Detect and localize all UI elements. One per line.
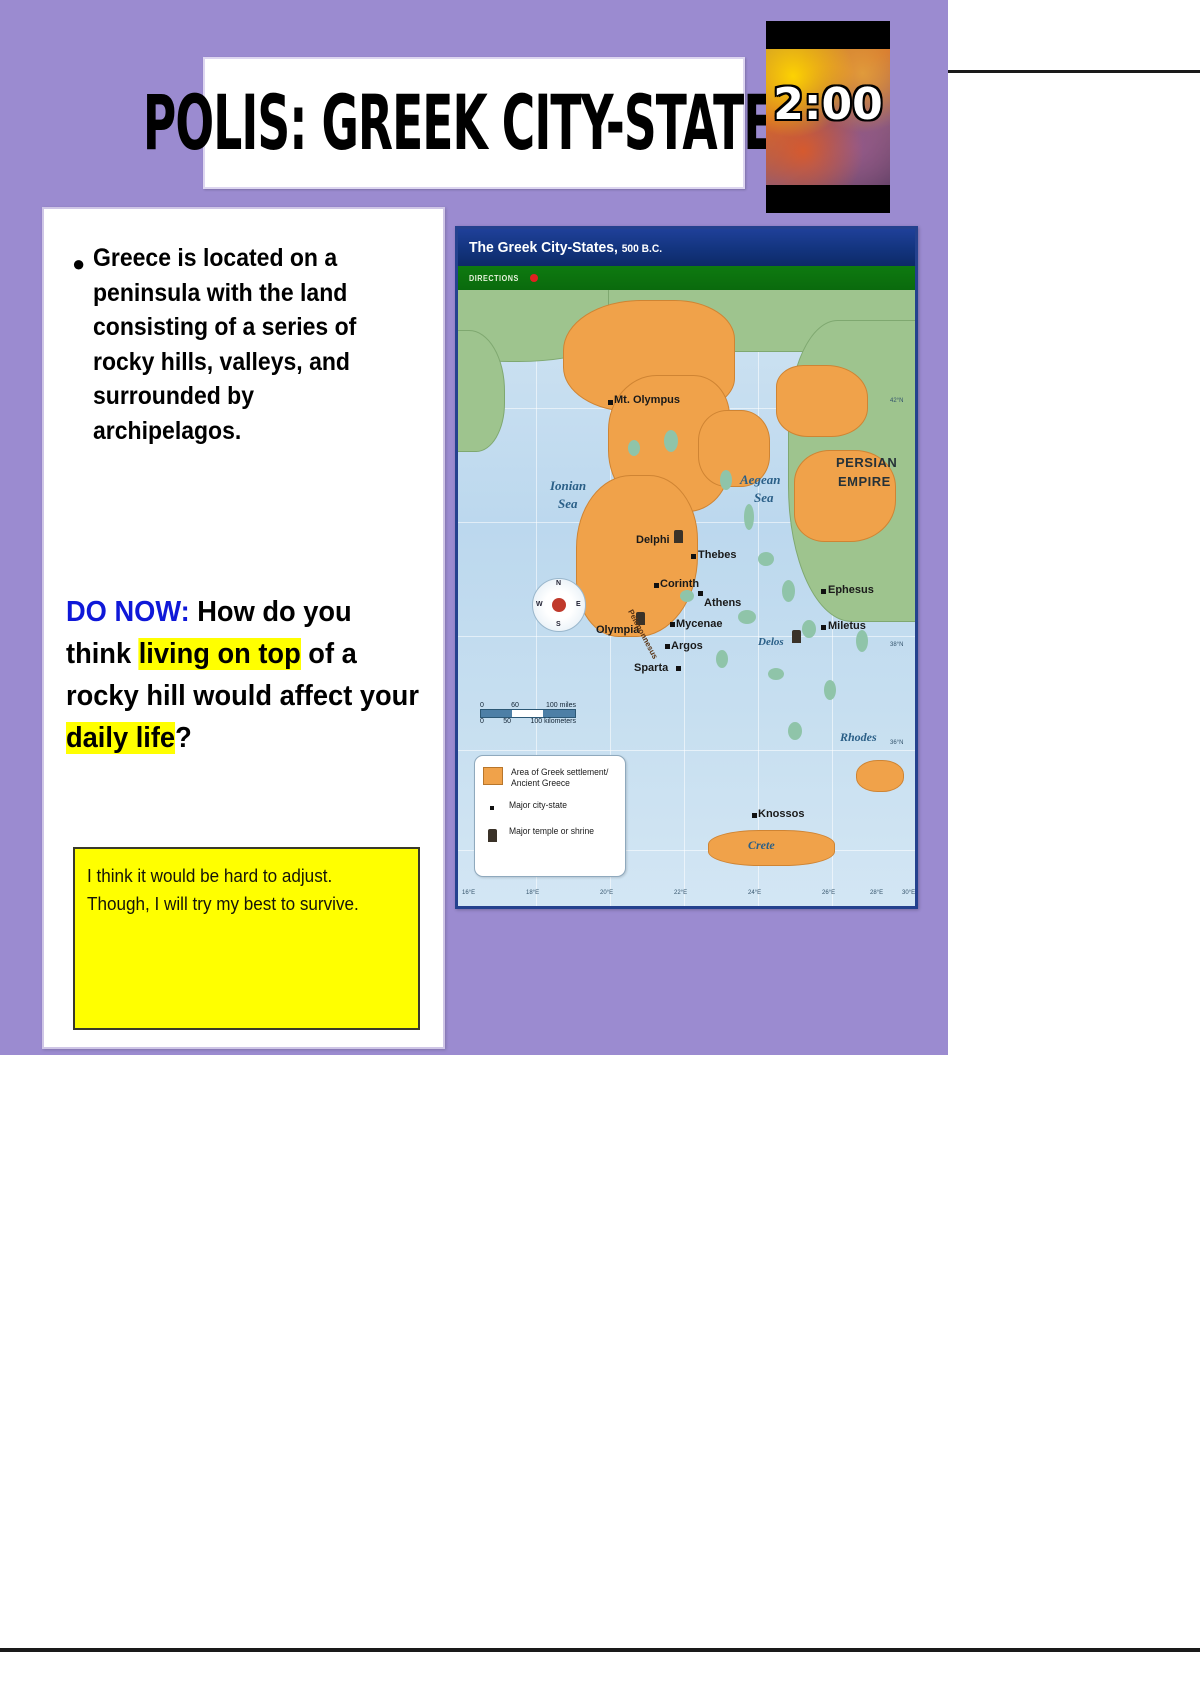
city-dot: [821, 625, 826, 630]
city-label-corinth: Corinth: [660, 578, 699, 590]
city-dot: [654, 583, 659, 588]
scale-bar-graphic: [480, 709, 576, 718]
page-root: POLIS: GREEK CITY-STATES 2:00 ● Greece i…: [0, 0, 1200, 1700]
compass-s: S: [556, 621, 561, 628]
scale-miles-0: 0: [480, 702, 484, 709]
city-dot: [665, 644, 670, 649]
empire-label-line2: EMPIRE: [838, 474, 891, 489]
city-label-mycenae: Mycenae: [676, 618, 722, 630]
bullet-item: ● Greece is located on a peninsula with …: [72, 241, 427, 448]
city-dot: [691, 554, 696, 559]
legend-area-line1: Area of Greek settlement/: [511, 767, 608, 778]
legend-item-temple: Major temple or shrine: [483, 826, 617, 842]
city-label-ephesus: Ephesus: [828, 584, 874, 596]
city-dot: [608, 400, 613, 405]
bullet-dot-icon: ●: [72, 253, 85, 275]
coord-bottom-3: 22°E: [674, 890, 687, 896]
coord-bottom-5: 26°E: [822, 890, 835, 896]
map-title-bar: The Greek City-States, 500 B.C.: [458, 229, 915, 266]
graticule-line: [458, 636, 915, 637]
city-label-argos: Argos: [671, 640, 703, 652]
coord-bottom-4: 24°E: [748, 890, 761, 896]
legend-temple-text: Major temple or shrine: [509, 826, 594, 837]
map-title: The Greek City-States, 500 B.C.: [469, 239, 662, 256]
scale-miles-2: 100 miles: [546, 702, 576, 709]
island: [716, 650, 728, 668]
city-label-thebes: Thebes: [698, 549, 737, 561]
coord-right-0: 42°N: [890, 398, 903, 404]
island: [628, 440, 640, 456]
coord-right-2: 36°N: [890, 740, 903, 746]
island: [758, 552, 774, 566]
island: [788, 722, 802, 740]
region-label-crete: Crete: [748, 838, 775, 853]
slide-title: POLIS: GREEK CITY-STATES: [143, 79, 805, 167]
legend-area-text: Area of Greek settlement/ Ancient Greece: [511, 767, 608, 790]
city-dot: [821, 589, 826, 594]
map-title-era: 500 B.C.: [622, 243, 662, 255]
region-label-rhodes: Rhodes: [840, 730, 877, 745]
do-now-q-part3: ?: [175, 722, 192, 754]
graticule-line: [458, 750, 915, 751]
island: [782, 580, 795, 602]
do-now-block: DO NOW: How do you think living on top o…: [66, 591, 446, 759]
land-greek-area: [776, 365, 868, 437]
sea-label-aegean-1: Aegean: [740, 472, 780, 488]
scale-miles-1: 60: [511, 702, 519, 709]
bullet-block: ● Greece is located on a peninsula with …: [72, 241, 427, 448]
legend-area-line2: Ancient Greece: [511, 778, 608, 789]
area-swatch-icon: [483, 767, 503, 785]
island: [720, 470, 732, 490]
scale-km-ticks: 0 50 100 kilometers: [480, 718, 576, 725]
temple-legend-icon: [483, 826, 501, 842]
temple-icon: [792, 630, 801, 643]
island: [680, 590, 694, 602]
map-title-main: The Greek City-States,: [469, 239, 622, 256]
coord-bottom-0: 16°E: [462, 890, 475, 896]
coord-bottom-6: 28°E: [870, 890, 883, 896]
coord-bottom-1: 18°E: [526, 890, 539, 896]
legend-city-text: Major city-state: [509, 800, 567, 811]
city-dot-icon: [483, 800, 501, 816]
empire-label-line1: PERSIAN: [836, 455, 897, 470]
legend-item-area: Area of Greek settlement/ Ancient Greece: [483, 767, 617, 790]
do-now-highlight-2: daily life: [66, 722, 175, 754]
island: [664, 430, 678, 452]
coord-bottom-7: 30°E: [902, 890, 915, 896]
compass-n: N: [556, 580, 561, 587]
do-now-highlight-1: living on top: [139, 638, 301, 670]
sea-label-ionian-2: Sea: [558, 496, 578, 512]
scale-km-0: 0: [480, 718, 484, 725]
map-scale-bar: 0 60 100 miles 0 50 100 kilometers: [480, 702, 576, 725]
content-panel: ● Greece is located on a peninsula with …: [42, 207, 445, 1049]
map-canvas: Ionian Sea Aegean Sea Mediterranean Sea …: [458, 290, 915, 906]
answer-textbox[interactable]: I think it would be hard to adjust. Thou…: [73, 847, 420, 1030]
scale-km-2: 100 kilometers: [530, 718, 576, 725]
slide-title-box: POLIS: GREEK CITY-STATES: [203, 57, 745, 189]
city-label-delphi: Delphi: [636, 534, 670, 546]
timer-widget[interactable]: 2:00: [766, 21, 890, 213]
temple-icon: [674, 530, 683, 543]
city-dot: [676, 666, 681, 671]
city-label-delos: Delos: [758, 636, 784, 648]
city-label-knossos: Knossos: [758, 808, 804, 820]
compass-w: W: [536, 601, 543, 608]
city-label-miletus: Miletus: [828, 620, 866, 632]
map-figure[interactable]: The Greek City-States, 500 B.C. DIRECTIO…: [455, 226, 918, 909]
scale-km-1: 50: [503, 718, 511, 725]
city-label-sparta: Sparta: [634, 662, 668, 674]
timer-value: 2:00: [766, 79, 890, 130]
coord-bottom-2: 20°E: [600, 890, 613, 896]
city-dot: [752, 813, 757, 818]
island: [738, 610, 756, 624]
do-now-question: DO NOW: How do you think living on top o…: [66, 591, 423, 759]
bullet-text: Greece is located on a peninsula with th…: [93, 241, 400, 448]
compass-rose-icon: N S E W: [532, 578, 586, 632]
city-dot: [670, 622, 675, 627]
compass-e: E: [576, 601, 581, 608]
map-legend: Area of Greek settlement/ Ancient Greece…: [474, 755, 626, 877]
island: [824, 680, 836, 700]
city-label-mt-olympus: Mt. Olympus: [614, 394, 680, 406]
city-label-athens: Athens: [704, 597, 741, 609]
do-now-label: DO NOW:: [66, 596, 190, 628]
island: [802, 620, 816, 638]
island: [768, 668, 784, 680]
city-dot: [698, 591, 703, 596]
coord-right-1: 38°N: [890, 642, 903, 648]
island: [744, 504, 754, 530]
sea-label-aegean-2: Sea: [754, 490, 774, 506]
compass-center: [552, 598, 566, 612]
island: [856, 630, 868, 652]
answer-text: I think it would be hard to adjust. Thou…: [87, 863, 390, 919]
page-rule-right: [948, 70, 1200, 73]
land-rhodes: [856, 760, 904, 792]
legend-item-city: Major city-state: [483, 800, 617, 816]
page-rule-bottom: [0, 1648, 1200, 1652]
map-directions-label: DIRECTIONS: [469, 274, 519, 283]
sea-label-ionian-1: Ionian: [550, 478, 586, 494]
directions-dot-icon: [530, 274, 538, 282]
map-directions-bar[interactable]: DIRECTIONS: [458, 266, 915, 290]
scale-miles-ticks: 0 60 100 miles: [480, 702, 576, 709]
